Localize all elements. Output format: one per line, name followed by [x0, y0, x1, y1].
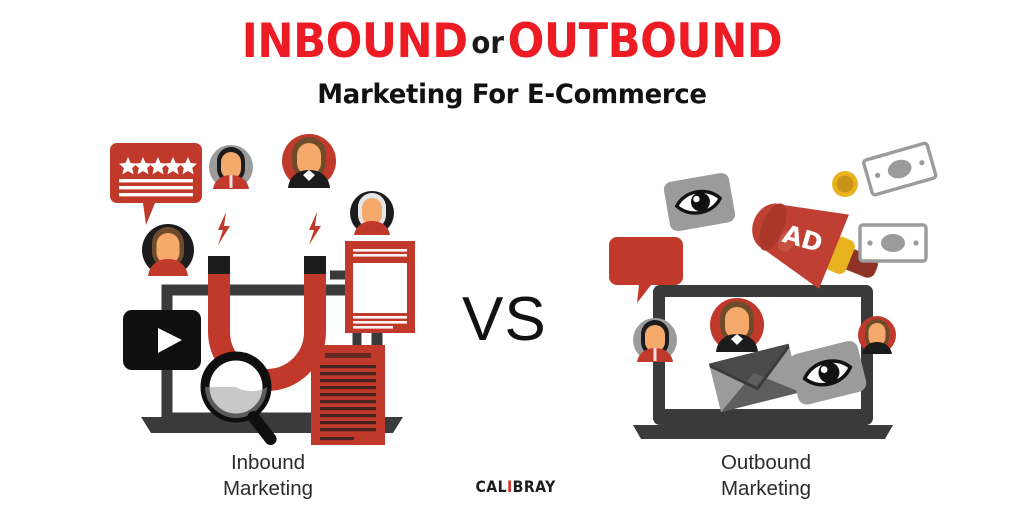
avatar-red-icon [282, 134, 336, 188]
banknote-icon [863, 143, 936, 196]
brand-logo: CALIBRAY [475, 477, 555, 496]
outbound-illustration: AD [605, 125, 945, 445]
title-outbound: OUTBOUND [508, 14, 783, 69]
review-speech-bubble-icon [110, 143, 202, 225]
page-subtitle: Marketing For E-Commerce [20, 79, 1003, 110]
logo-post: BRAY [513, 477, 556, 496]
inbound-illustration [105, 125, 445, 445]
header-block: INBOUNDorOUTBOUND Marketing For E-Commer… [0, 18, 1024, 110]
outbound-caption: Outbound Marketing [636, 450, 896, 502]
avatar-black-left-icon [142, 224, 194, 276]
title-inbound: INBOUND [242, 14, 468, 69]
avatar-small-red-icon [858, 316, 896, 354]
outbound-caption-line1: Outbound [636, 450, 896, 476]
coin-icon [832, 171, 858, 197]
logo-pre: CAL [475, 477, 507, 496]
eye-card-icon [663, 172, 737, 233]
article-card-icon [311, 345, 385, 445]
avatar-red-icon [710, 298, 764, 352]
banknote-icon [860, 225, 926, 261]
avatar-gray-icon [633, 318, 677, 362]
vs-label: VS [462, 284, 547, 355]
avatar-black-icon [350, 191, 394, 235]
document-card-icon [345, 241, 415, 333]
title-conjunction: or [468, 26, 508, 61]
lightning-bolt-icon [218, 212, 321, 245]
inbound-caption-line1: Inbound [138, 450, 398, 476]
outbound-caption-line2: Marketing [636, 476, 896, 502]
play-button-icon [123, 310, 201, 370]
inbound-caption: Inbound Marketing [138, 450, 398, 502]
inbound-caption-line2: Marketing [138, 476, 398, 502]
page-title: INBOUNDorOUTBOUND [41, 18, 983, 66]
avatar-gray-icon [209, 145, 253, 189]
infographic-canvas: INBOUNDorOUTBOUND Marketing For E-Commer… [0, 0, 1024, 512]
